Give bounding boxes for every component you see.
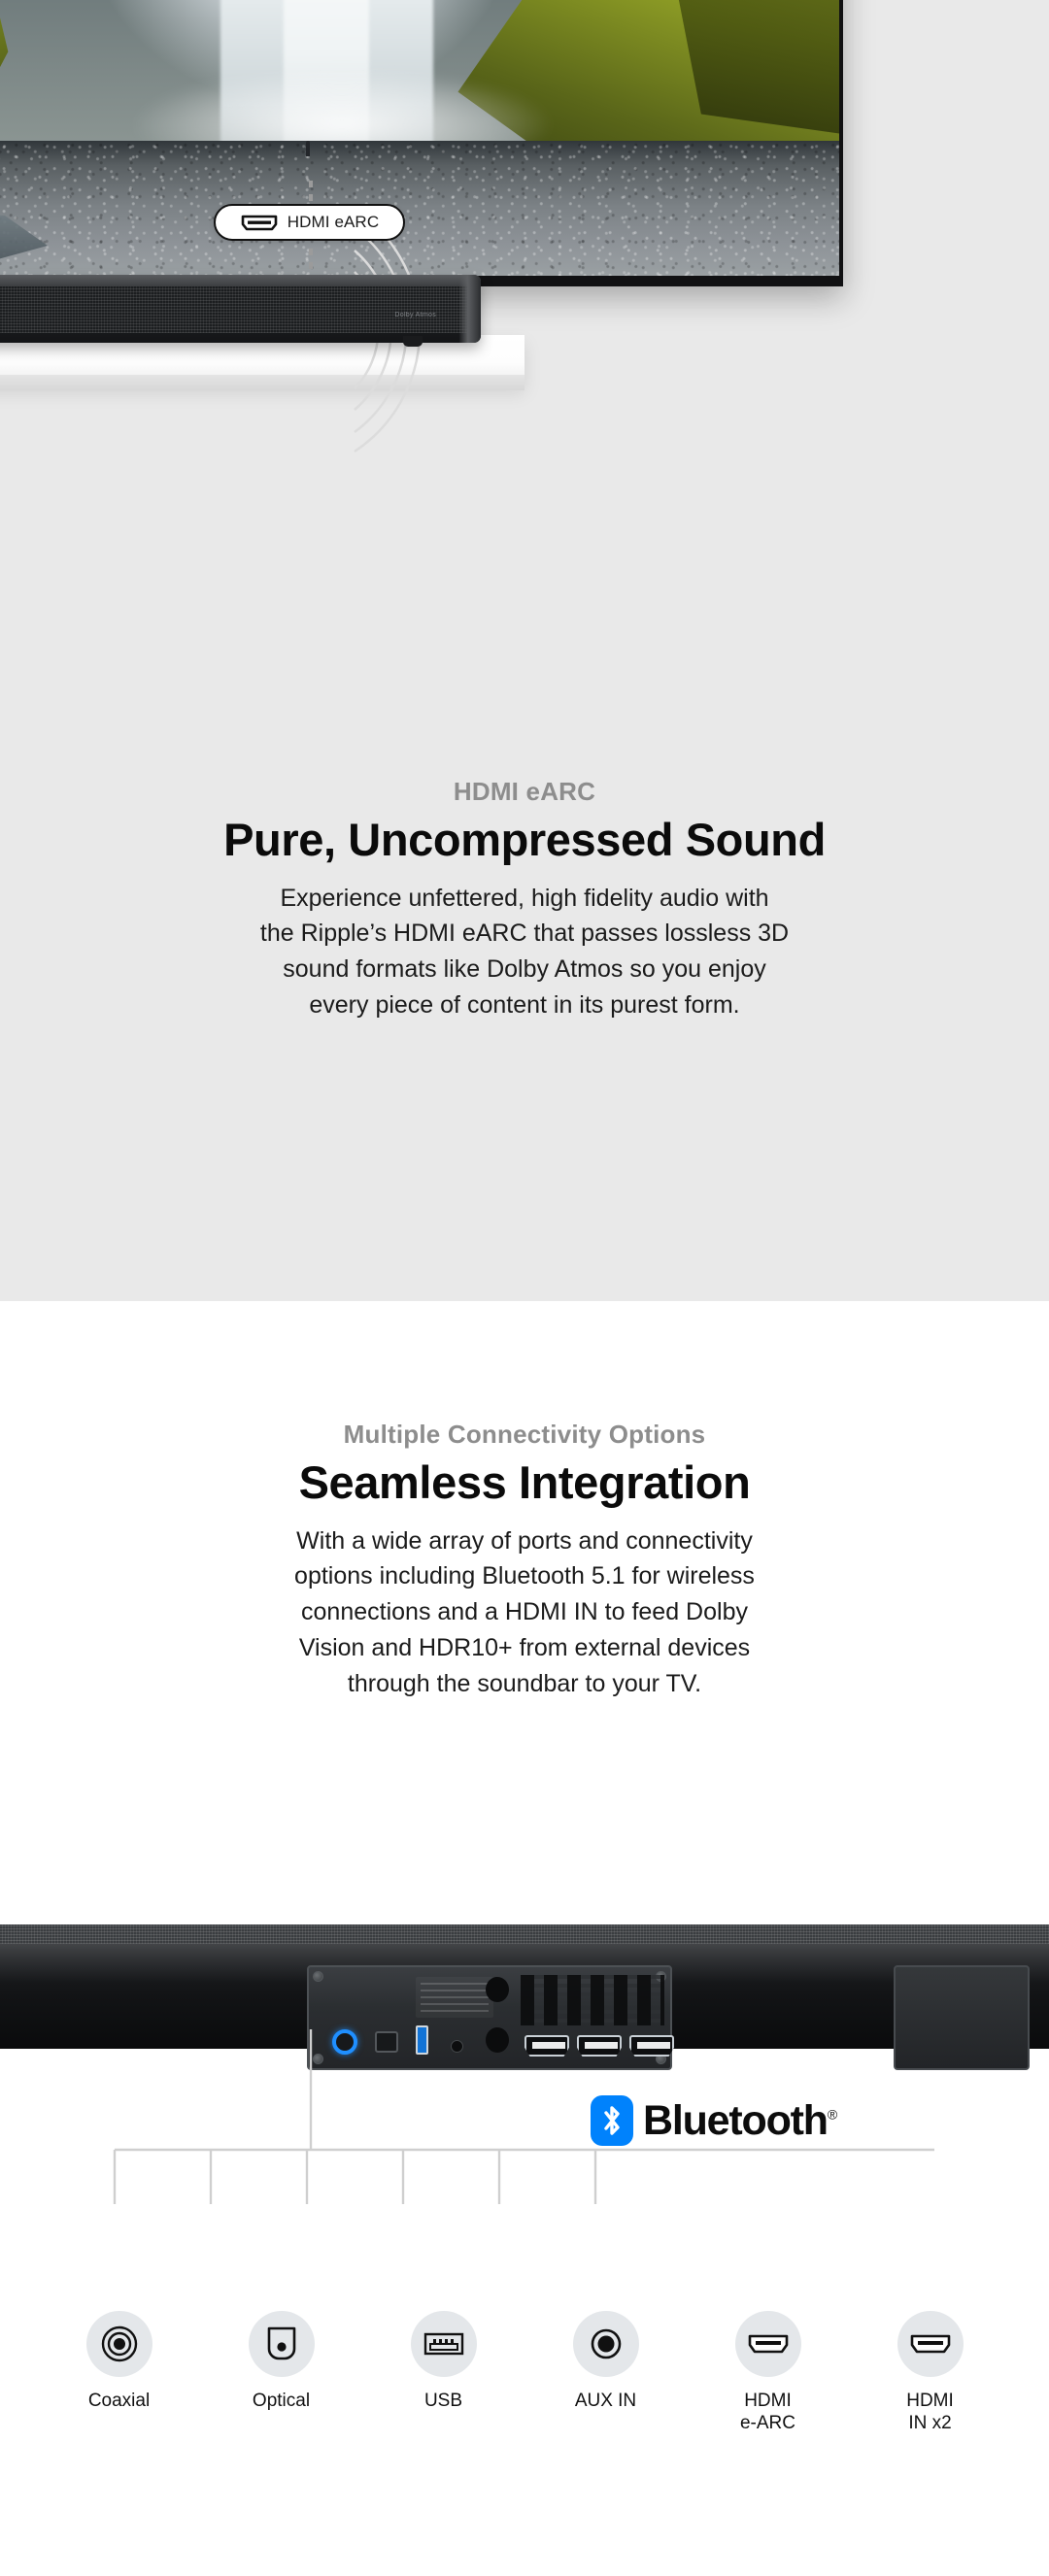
port-label-line1: AUX IN xyxy=(575,2391,636,2411)
aux-in-icon xyxy=(573,2311,639,2377)
section-one-eyebrow: HDMI eARC xyxy=(0,777,1049,807)
port-label: Coaxial xyxy=(88,2391,150,2413)
body-line: connections and a HDMI IN to feed Dolby xyxy=(0,1594,1049,1630)
port-item-hdmi-in: HDMI IN x2 xyxy=(864,2311,997,2435)
body-line: options including Bluetooth 5.1 for wire… xyxy=(0,1558,1049,1594)
optical-icon xyxy=(249,2311,315,2377)
usb-icon xyxy=(411,2311,477,2377)
port-label: HDMI IN x2 xyxy=(906,2391,954,2435)
hdmi-earc-badge: HDMI eARC xyxy=(214,204,405,241)
section-one-body: Experience unfettered, high fidelity aud… xyxy=(0,881,1049,1023)
port-item-coaxial: Coaxial xyxy=(53,2311,186,2435)
port-label: AUX IN xyxy=(575,2391,636,2413)
port-label-line1: HDMI xyxy=(906,2391,954,2411)
port-label-line1: USB xyxy=(424,2391,462,2411)
port-label: USB xyxy=(424,2391,462,2413)
port-label-line2: IN x2 xyxy=(908,2413,951,2433)
dolby-atmos-logo: Dolby Atmos xyxy=(394,312,436,318)
soundbar-front-view: Dolby Atmos xyxy=(0,275,481,343)
section-two-headline: Seamless Integration xyxy=(0,1457,1049,1508)
port-item-aux-in: AUX IN xyxy=(540,2311,672,2435)
port-icon-row: Coaxial Optical xyxy=(0,2311,1049,2435)
port-label-line2: e-ARC xyxy=(740,2413,795,2433)
port-item-optical: Optical xyxy=(216,2311,348,2435)
soundbar-foot xyxy=(403,336,423,347)
hdmi-earc-icon xyxy=(735,2311,801,2377)
section-two-eyebrow: Multiple Connectivity Options xyxy=(0,1420,1049,1450)
port-label-line1: Coaxial xyxy=(88,2391,150,2411)
body-line: the Ripple’s HDMI eARC that passes lossl… xyxy=(0,916,1049,952)
port-label: HDMI e-ARC xyxy=(740,2391,795,2435)
hdmi-in-icon xyxy=(897,2311,964,2377)
coaxial-icon xyxy=(86,2311,152,2377)
section-one-text: HDMI eARC Pure, Uncompressed Sound Exper… xyxy=(0,777,1049,1023)
section-two-body: With a wide array of ports and connectiv… xyxy=(0,1523,1049,1702)
body-line: With a wide array of ports and connectiv… xyxy=(0,1523,1049,1559)
body-line: Vision and HDR10+ from external devices xyxy=(0,1630,1049,1666)
ventilation-grille xyxy=(521,1975,664,2025)
hdmi-earc-badge-label: HDMI eARC xyxy=(288,213,379,232)
port-label: Optical xyxy=(253,2391,310,2413)
port-item-hdmi-earc: HDMI e-ARC xyxy=(702,2311,834,2435)
mount-hole xyxy=(486,1977,509,2002)
port-label-line1: HDMI xyxy=(744,2391,792,2411)
body-line: sound formats like Dolby Atmos so you en… xyxy=(0,952,1049,987)
body-line: every piece of content in its purest for… xyxy=(0,987,1049,1023)
section-two-text: Multiple Connectivity Options Seamless I… xyxy=(0,1420,1049,1701)
port-connector-tree xyxy=(0,2029,1049,2311)
regulatory-label xyxy=(416,1977,493,2018)
body-line: Experience unfettered, high fidelity aud… xyxy=(0,881,1049,917)
hero-section: HDMI eARC Dolby Atmos HDMI eARC Pure, Un… xyxy=(0,0,1049,1301)
hdmi-port-icon xyxy=(240,215,279,231)
section-one-headline: Pure, Uncompressed Sound xyxy=(0,815,1049,865)
port-label-line1: Optical xyxy=(253,2391,310,2411)
port-item-usb: USB xyxy=(378,2311,510,2435)
body-line: through the soundbar to your TV. xyxy=(0,1666,1049,1702)
